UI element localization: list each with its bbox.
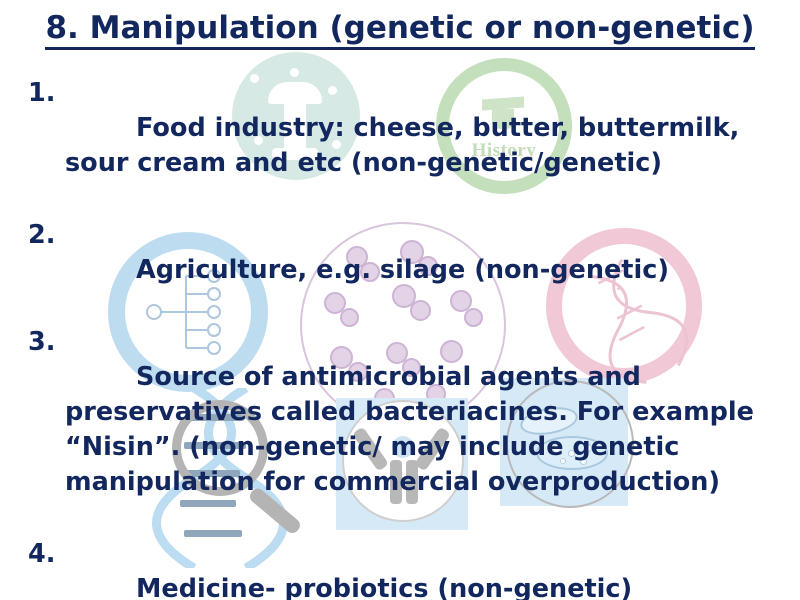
list-item-number: 1. xyxy=(28,76,65,111)
list-item-text: Source of antimicrobial agents and prese… xyxy=(65,362,763,497)
bullet-list: 1.Food industry: cheese, butter, butterm… xyxy=(22,76,792,600)
slide-title-text: 8. Manipulation (genetic or non-genetic) xyxy=(45,10,754,50)
list-item-number: 3. xyxy=(28,325,65,360)
page-title: 8. Manipulation (genetic or non-genetic) xyxy=(0,8,800,48)
list-item-text: Agriculture, e.g. silage (non-genetic) xyxy=(136,255,669,285)
list-item-number: 2. xyxy=(28,218,65,253)
list-item-number: 4. xyxy=(28,537,65,572)
list-item: 3.Source of antimicrobial agents and pre… xyxy=(22,325,792,535)
presentation-slide: History xyxy=(0,0,800,600)
list-item: 2.Agriculture, e.g. silage (non-genetic) xyxy=(22,218,792,323)
list-item: 4.Medicine- probiotics (non-genetic) xyxy=(22,537,792,600)
list-item: 1.Food industry: cheese, butter, butterm… xyxy=(22,76,792,216)
list-item-text: Medicine- probiotics (non-genetic) xyxy=(136,574,632,600)
list-item-text: Food industry: cheese, butter, buttermil… xyxy=(65,113,748,178)
